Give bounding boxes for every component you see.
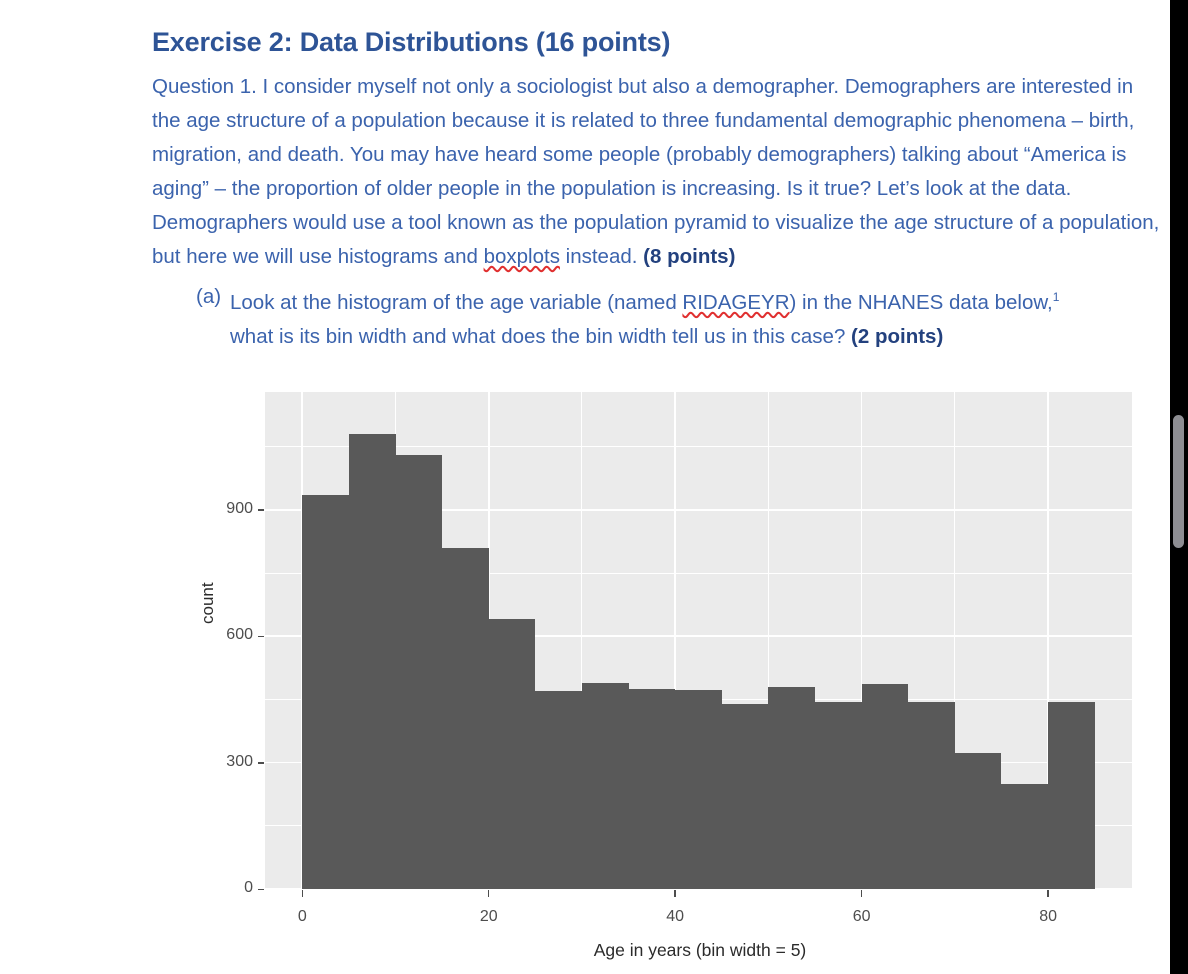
x-axis-tick-mark [488, 890, 490, 897]
spellcheck-word: boxplots [484, 245, 560, 268]
footnote-marker: 1 [1053, 290, 1060, 304]
y-axis-tick-mark [258, 889, 264, 891]
y-axis-label: count [198, 582, 218, 624]
x-axis-tick-mark [1047, 890, 1049, 897]
histogram-bar [396, 455, 443, 889]
y-axis-tick-mark [258, 509, 264, 511]
histogram-bar [1001, 784, 1048, 889]
question-a-text-before: Look at the histogram of the age variabl… [230, 291, 682, 314]
histogram-bar [629, 689, 676, 889]
page-title: Exercise 2: Data Distributions (16 point… [152, 26, 1162, 58]
y-axis-tick-label: 0 [244, 879, 253, 897]
document-body: Exercise 2: Data Distributions (16 point… [152, 26, 1162, 354]
x-axis-tick-label: 40 [655, 908, 695, 926]
question-a-points: (2 points) [851, 325, 943, 348]
histogram-bar [442, 548, 489, 889]
list-item: (a) Look at the histogram of the age var… [196, 280, 1161, 354]
histogram-bar [862, 684, 909, 889]
histogram-bar [955, 753, 1002, 889]
x-axis-label: Age in years (bin width = 5) [265, 940, 1135, 961]
histogram-bar [768, 687, 815, 889]
histogram-bar [582, 683, 629, 889]
y-axis-tick-label: 600 [226, 626, 253, 644]
x-axis-tick-label: 20 [469, 908, 509, 926]
histogram-bar [1048, 702, 1095, 889]
histogram-bar [302, 495, 349, 889]
histogram-bar [815, 702, 862, 889]
x-axis-tick-label: 0 [282, 908, 322, 926]
histogram-bar [908, 702, 955, 889]
histogram-bar [535, 691, 582, 889]
vertical-scrollbar[interactable] [1170, 0, 1188, 974]
histogram-bar [489, 619, 536, 889]
histogram-figure: count Age in years (bin width = 5) 03006… [152, 392, 1152, 967]
question-paragraph-text: Question 1. I consider myself not only a… [152, 75, 1159, 268]
x-axis-tick-mark [861, 890, 863, 897]
plot-panel [265, 392, 1132, 889]
histogram-bar [349, 434, 396, 889]
y-axis-tick-label: 900 [226, 500, 253, 518]
x-axis-tick-mark [302, 890, 304, 897]
y-axis-tick-mark [258, 636, 264, 638]
x-axis-tick-label: 80 [1028, 908, 1068, 926]
question-paragraph-points: (8 points) [643, 245, 735, 268]
question-paragraph: Question 1. I consider myself not only a… [152, 70, 1160, 274]
y-axis-tick-label: 300 [226, 753, 253, 771]
spellcheck-variable-name: RIDAGEYR [682, 291, 789, 314]
document-page: Exercise 2: Data Distributions (16 point… [0, 0, 1170, 974]
list-item-marker: (a) [196, 280, 230, 354]
list-item-label: Look at the histogram of the age variabl… [230, 280, 1059, 354]
x-axis-tick-label: 60 [842, 908, 882, 926]
question-a-line2: what is its bin width and what does the … [230, 325, 851, 348]
scrollbar-thumb[interactable] [1173, 415, 1184, 548]
question-a-text-after: ) in the NHANES data below, [790, 291, 1053, 314]
histogram-bar [675, 690, 722, 889]
x-axis-tick-mark [674, 890, 676, 897]
histogram-bar [722, 704, 769, 889]
y-axis-tick-mark [258, 762, 264, 764]
